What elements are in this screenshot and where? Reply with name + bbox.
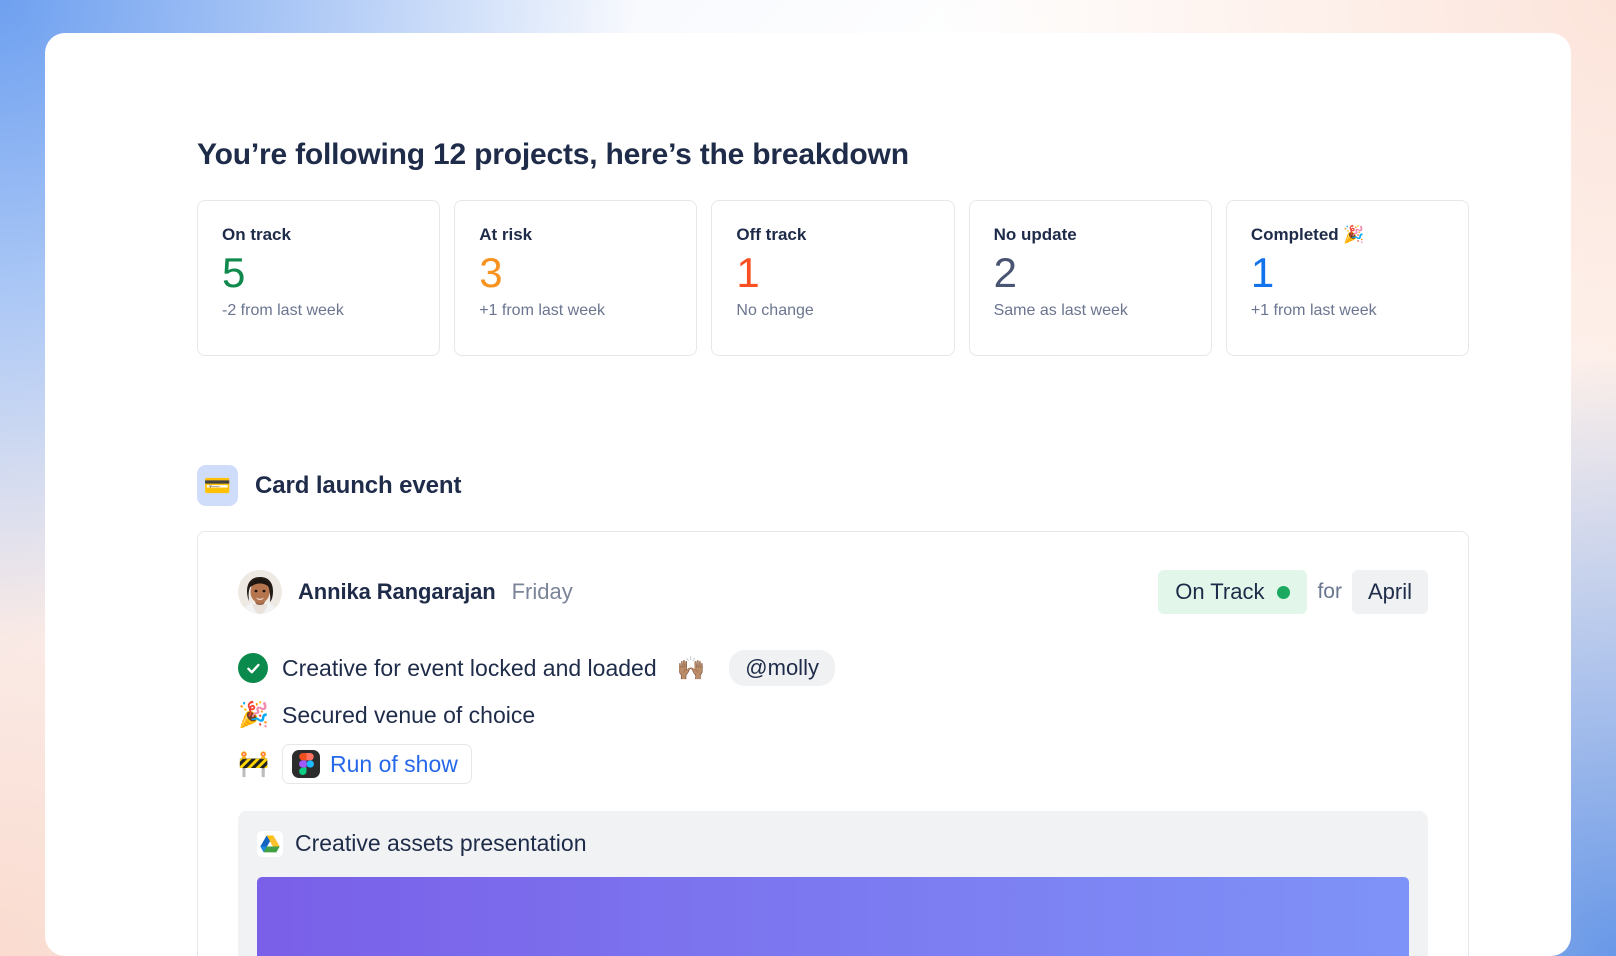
checklist-item: 🎉 Secured venue of choice [238,697,1428,733]
stat-card-label: At risk [479,225,672,245]
period-badge[interactable]: April [1352,570,1428,614]
stat-card-value: 1 [736,247,929,299]
mention-pill[interactable]: @molly [729,650,835,686]
stat-card-off-track[interactable]: Off track 1 No change [711,200,954,356]
project-name[interactable]: Card launch event [255,472,461,500]
author-block: Annika Rangarajan Friday [238,570,573,614]
stat-card-no-update[interactable]: No update 2 Same as last week [969,200,1212,356]
stat-card-value: 2 [994,247,1187,299]
avatar[interactable] [238,570,282,614]
google-drive-icon [257,831,283,857]
stat-card-delta: +1 from last week [479,301,672,321]
project-status-summary-cards: On track 5 -2 from last week At risk 3 +… [197,200,1469,356]
attachment-title[interactable]: Creative assets presentation [295,830,587,857]
status-update-card: Annika Rangarajan Friday On Track for Ap… [197,531,1469,956]
stat-card-at-risk[interactable]: At risk 3 +1 from last week [454,200,697,356]
attachment-card[interactable]: Creative assets presentation [238,811,1428,956]
stat-card-value: 5 [222,247,415,299]
stat-card-label: No update [994,225,1187,245]
checklist-item: 🚧 Run of show [238,744,1428,784]
stat-card-value: 3 [479,247,672,299]
checklist-item: Creative for event locked and loaded 🙌🏽 … [238,650,1428,686]
stat-card-label: Off track [736,225,929,245]
stat-card-value: 1 [1251,247,1444,299]
figma-link-chip[interactable]: Run of show [282,744,472,784]
figma-link-label[interactable]: Run of show [330,751,458,778]
project-header[interactable]: 💳 Card launch event [197,465,461,506]
raising-hands-emoji: 🙌🏽 [677,655,706,682]
stat-card-delta: No change [736,301,929,321]
status-badge-label: On Track [1175,579,1264,605]
post-day: Friday [512,579,573,605]
stat-card-delta: -2 from last week [222,301,415,321]
for-label: for [1317,580,1342,604]
attachment-preview-image[interactable] [257,877,1409,956]
stat-card-delta: Same as last week [994,301,1187,321]
party-popper-emoji: 🎉 [238,700,268,730]
status-badge[interactable]: On Track [1158,570,1307,614]
stat-card-label: Completed 🎉 [1251,225,1444,245]
checklist-item-text: Secured venue of choice [282,702,535,729]
app-surface: You’re following 12 projects, here’s the… [45,33,1571,956]
stat-card-label: On track [222,225,415,245]
check-circle-icon [238,653,268,683]
figma-icon [292,750,320,778]
construction-emoji: 🚧 [238,749,268,779]
stat-card-completed[interactable]: Completed 🎉 1 +1 from last week [1226,200,1469,356]
status-meta: On Track for April [1158,570,1428,614]
stat-card-on-track[interactable]: On track 5 -2 from last week [197,200,440,356]
stat-card-delta: +1 from last week [1251,301,1444,321]
status-dot-icon [1277,586,1290,599]
credit-card-emoji: 💳 [197,465,238,506]
checklist-item-text: Creative for event locked and loaded [282,655,657,682]
status-checklist: Creative for event locked and loaded 🙌🏽 … [238,650,1428,784]
page-title: You’re following 12 projects, here’s the… [197,138,909,172]
attachment-header: Creative assets presentation [257,830,1409,857]
status-update-header: Annika Rangarajan Friday On Track for Ap… [238,570,1428,614]
author-name[interactable]: Annika Rangarajan [298,579,496,605]
